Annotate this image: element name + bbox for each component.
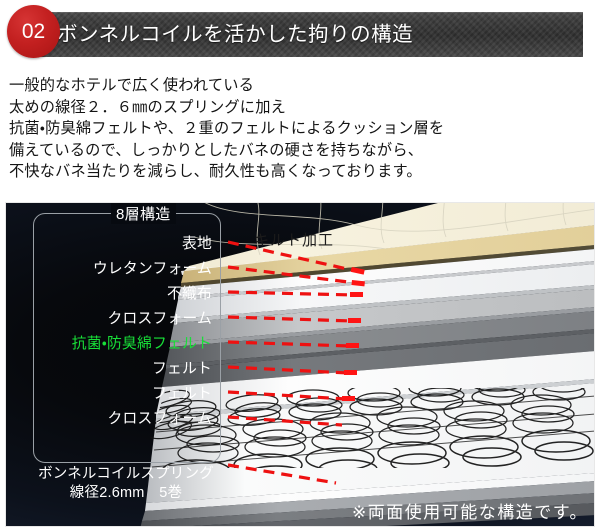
coil-spec-line-1: ボンネルコイルスプリング	[26, 465, 226, 484]
layer-label-6: フェルト	[152, 360, 220, 378]
layer-label-4: クロスフォーム	[107, 310, 220, 328]
step-number-badge: 02	[7, 5, 60, 58]
intro-line: 不快なバネ当たりを減らし、耐久性も高くなっております。	[9, 161, 593, 183]
mattress-construction-diagram: キルト加工 8層構造 表地 ウレタンフォーム 不織布	[5, 202, 595, 527]
layer-label-1: 表地	[182, 235, 220, 253]
layer-label-2: ウレタンフォーム	[93, 260, 220, 278]
coil-spec-line-2: 線径2.6mm 5巻	[26, 484, 226, 503]
bracket-title: 8層構造	[111, 203, 176, 224]
layer-label-8: クロスフォーム	[107, 410, 220, 428]
coil-spec-caption: ボンネルコイルスプリング 線径2.6mm 5巻	[26, 465, 226, 503]
layer-label-5: 抗菌・防臭綿フェルト	[72, 335, 220, 353]
intro-line: 太めの線径２．６㎜のスプリングに加え	[9, 97, 593, 119]
layer-label-3: 不織布	[167, 285, 220, 303]
layer-bracket: 8層構造 表地 ウレタンフォーム 不織布 クロスフォーム 抗菌・防臭綿フェルト …	[33, 213, 221, 463]
page-title: ボンネルコイルを活かした拘りの構造	[57, 21, 413, 49]
intro-line: 一般的なホテルで広く使われている	[9, 75, 593, 97]
layer-label-7: フェルト	[152, 385, 220, 403]
intro-line: 抗菌・防臭綿フェルトや、２重のフェルトによるクッション層を	[9, 118, 593, 140]
reversible-note: ※両面使用可能な構造です。	[352, 498, 588, 523]
intro-line: 備えているので、しっかりとしたバネの硬さを持ちながら、	[9, 140, 593, 162]
section-header: 02 ボンネルコイルを活かした拘りの構造	[0, 0, 600, 68]
intro-paragraph: 一般的なホテルで広く使われている 太めの線径２．６㎜のスプリングに加え 抗菌・防…	[9, 75, 593, 183]
